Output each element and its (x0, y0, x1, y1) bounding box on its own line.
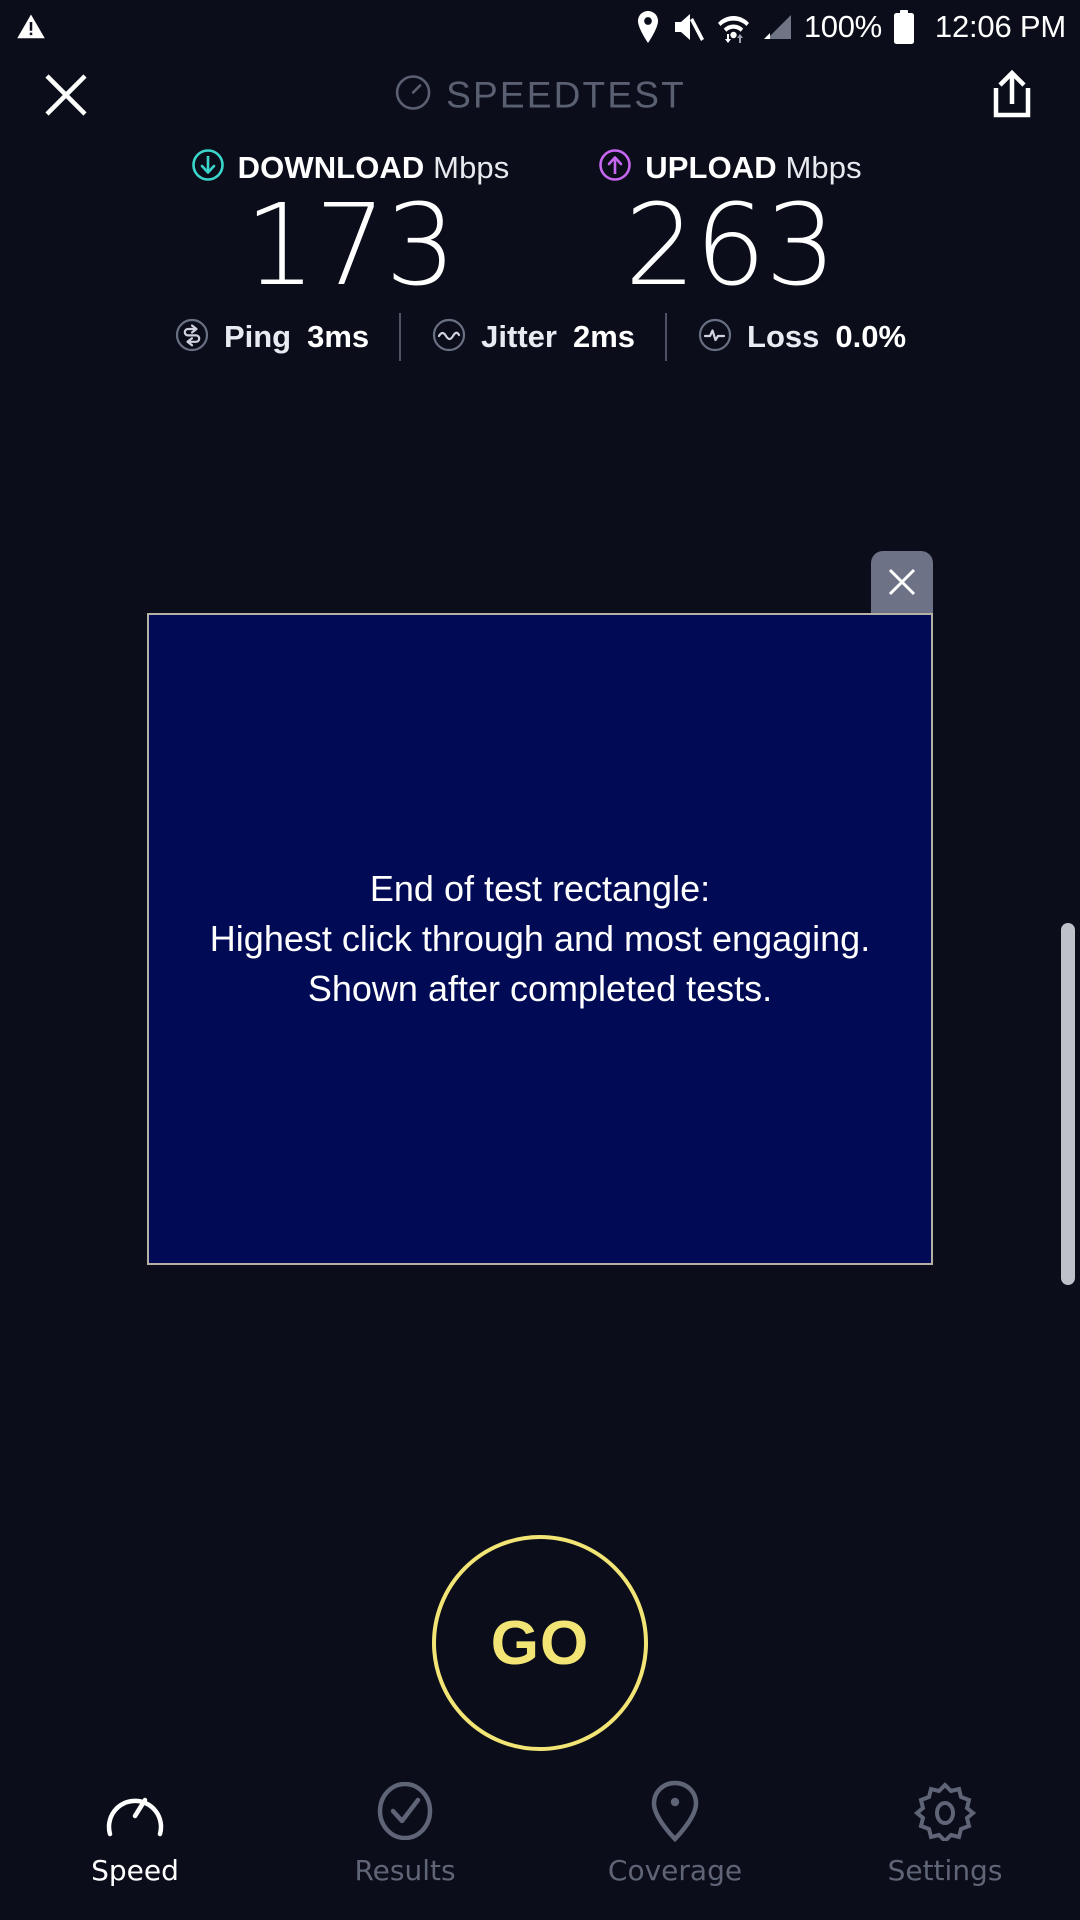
network-metrics-row: Ping 3ms Jitter 2ms (0, 313, 1080, 361)
results-summary: DOWNLOAD Mbps 173 UPLOAD Mbps 263 (0, 136, 1080, 361)
download-value: 173 (245, 189, 456, 303)
metric-loss-value: 0.0% (835, 319, 906, 355)
speed-results-row: DOWNLOAD Mbps 173 UPLOAD Mbps 263 (0, 136, 1080, 303)
loss-pulse-icon (697, 317, 733, 358)
upload-value: 263 (625, 189, 836, 303)
page-title: SPEEDTEST (446, 74, 686, 116)
advertisement-text: End of test rectangle: Highest click thr… (194, 864, 886, 1013)
nav-label-speed: Speed (91, 1854, 179, 1887)
ad-line-2: Highest click through and most engaging. (210, 914, 870, 964)
nav-label-results: Results (354, 1854, 455, 1887)
ad-close-x-icon[interactable] (871, 551, 933, 613)
volume-muted-icon (672, 11, 706, 43)
metric-ping-label: Ping (224, 319, 291, 355)
share-upload-icon[interactable] (986, 67, 1038, 123)
metric-ping: Ping 3ms (144, 317, 399, 358)
bottom-navigation-bar: Speed Results Coverage (0, 1770, 1080, 1920)
speedometer-gauge-icon (104, 1780, 166, 1842)
cellular-signal-icon (761, 11, 793, 43)
go-button-label: GO (491, 1608, 589, 1679)
upload-result: UPLOAD Mbps 263 (540, 148, 920, 303)
advertisement-banner[interactable]: End of test rectangle: Highest click thr… (147, 613, 933, 1265)
nav-item-results[interactable]: Results (270, 1770, 540, 1887)
nav-item-speed[interactable]: Speed (0, 1770, 270, 1887)
wifi-icon (717, 10, 750, 44)
jitter-wave-icon (431, 317, 467, 358)
nav-label-settings: Settings (888, 1854, 1003, 1887)
status-bar-clock: 12:06 PM (935, 9, 1066, 45)
metric-loss-label: Loss (747, 319, 819, 355)
speedtest-app-screen: 100% 12:06 PM SPEE (0, 0, 1080, 1920)
metric-jitter-value: 2ms (573, 319, 635, 355)
check-circle-icon (374, 1780, 436, 1842)
status-bar: 100% 12:06 PM (0, 0, 1080, 54)
ad-line-1: End of test rectangle: (210, 864, 870, 914)
close-x-icon[interactable] (38, 67, 94, 123)
battery-percent-label: 100% (804, 9, 882, 45)
go-button[interactable]: GO (432, 1535, 648, 1751)
battery-full-icon (893, 10, 915, 44)
nav-item-coverage[interactable]: Coverage (540, 1770, 810, 1887)
arrow-down-circle-icon (191, 148, 225, 187)
nav-label-coverage: Coverage (608, 1854, 742, 1887)
metric-jitter: Jitter 2ms (401, 317, 665, 358)
nav-item-settings[interactable]: Settings (810, 1770, 1080, 1887)
download-result: DOWNLOAD Mbps 173 (160, 148, 540, 303)
metric-ping-value: 3ms (307, 319, 369, 355)
app-header: SPEEDTEST (0, 54, 1080, 136)
metric-jitter-label: Jitter (481, 319, 557, 355)
metric-loss: Loss 0.0% (667, 317, 936, 358)
app-title-group: SPEEDTEST (394, 74, 686, 117)
ad-line-3: Shown after completed tests. (210, 964, 870, 1014)
map-pin-icon (650, 1780, 700, 1842)
speedometer-icon (394, 74, 432, 117)
location-pin-icon (635, 11, 661, 43)
ping-exchange-icon (174, 317, 210, 358)
gear-icon (914, 1780, 976, 1842)
advertisement-container: End of test rectangle: Highest click thr… (147, 613, 933, 1265)
vertical-scrollbar[interactable] (1061, 923, 1075, 1285)
warning-triangle-icon (16, 12, 46, 42)
